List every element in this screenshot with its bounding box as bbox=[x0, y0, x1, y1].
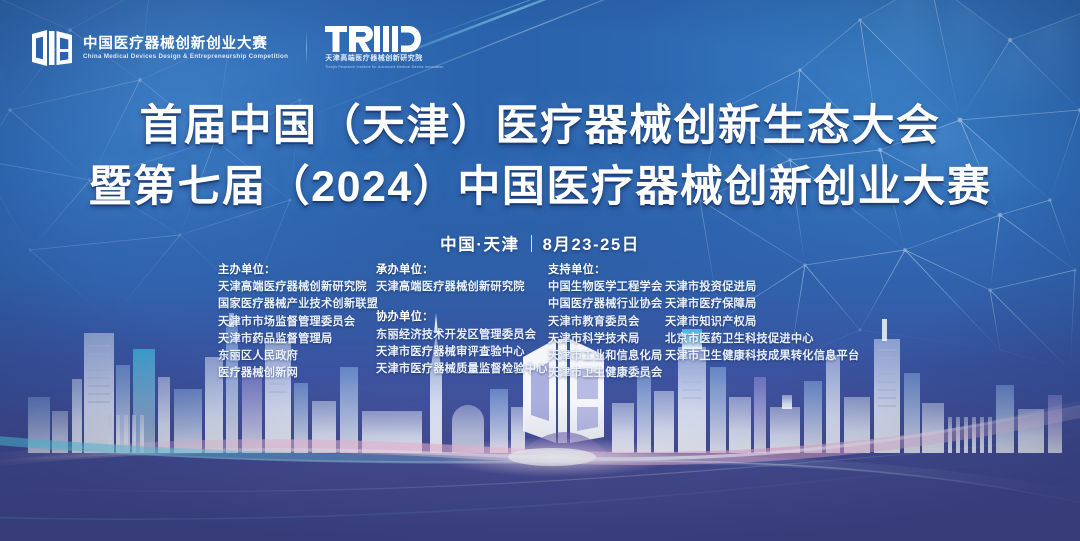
organizer-item: 天津市知识产权局 bbox=[665, 314, 870, 331]
organizer-item: 天津市医疗器械质量监督检验中心 bbox=[376, 361, 548, 378]
organizer-group-heading: 主办单位： bbox=[218, 262, 376, 279]
header-logos: 中国医疗器械创新创业大赛 China Medical Devices Desig… bbox=[30, 26, 444, 70]
organizer-item: 东丽经济技术开发区管理委员会 bbox=[376, 327, 548, 344]
organizer-item: 东丽区人民政府 bbox=[218, 348, 376, 365]
competition-logo-cn-label: 中国医疗器械创新创业大赛 bbox=[83, 37, 288, 52]
organizer-item: 天津市医疗保障局 bbox=[665, 296, 870, 313]
event-date: 8月23-25日 bbox=[543, 231, 640, 255]
main-title-line-1: 首届中国（天津）医疗器械创新生态大会 bbox=[0, 96, 1080, 157]
organizer-column-3: 支持单位： 中国生物医学工程学会 中国医疗器械行业协会 天津市教育委员会 天津市… bbox=[548, 262, 665, 382]
organizer-group-heading: 支持单位： bbox=[548, 262, 665, 279]
title-block: 首届中国（天津）医疗器械创新生态大会 暨第七届（2024）中国医疗器械创新创业大… bbox=[0, 96, 1080, 255]
organizer-item: 医疗器械创新网 bbox=[218, 365, 376, 382]
main-title-line-2: 暨第七届（2024）中国医疗器械创新创业大赛 bbox=[0, 157, 1080, 218]
organizer-group-heading: 协办单位： bbox=[376, 309, 548, 326]
organizer-item: 国家医疗器械产业技术创新联盟 bbox=[218, 296, 376, 313]
organizer-item: 中国医疗器械行业协会 bbox=[548, 296, 665, 313]
organizer-group: 支持单位： 中国生物医学工程学会 中国医疗器械行业协会 天津市教育委员会 天津市… bbox=[548, 262, 665, 382]
competition-logo[interactable]: 中国医疗器械创新创业大赛 China Medical Devices Desig… bbox=[30, 28, 288, 68]
logo-divider bbox=[306, 30, 307, 66]
triid-logo-en-label: Tianjin Research Institute for Advanced … bbox=[325, 66, 443, 70]
organizer-item: 天津市投资促进局 bbox=[665, 279, 870, 296]
organizer-item: 天津高端医疗器械创新研究院 bbox=[376, 279, 548, 296]
triid-logo[interactable]: 天津高端医疗器械创新研究院 Tianjin Research Institute… bbox=[325, 26, 443, 70]
organizer-item: 中国生物医学工程学会 bbox=[548, 279, 665, 296]
organizer-item: 天津市教育委员会 bbox=[548, 314, 665, 331]
organizer-item: 天津高端医疗器械创新研究院 bbox=[218, 279, 376, 296]
competition-logo-en-label: China Medical Devices Design & Entrepren… bbox=[83, 54, 288, 61]
organizer-item: 天津市卫生健康委员会 bbox=[548, 365, 665, 382]
organizer-group: 天津市投资促进局 天津市医疗保障局 天津市知识产权局 北京市医药卫生科技促进中心… bbox=[665, 262, 870, 365]
organizer-item: 北京市医药卫生科技促进中心 bbox=[665, 331, 870, 348]
organizer-group: 协办单位： 东丽经济技术开发区管理委员会 天津市医疗器械审评查验中心 天津市医疗… bbox=[376, 309, 548, 378]
organizer-group: 承办单位： 天津高端医疗器械创新研究院 bbox=[376, 262, 548, 296]
organizer-group: 主办单位： 天津高端医疗器械创新研究院 国家医疗器械产业技术创新联盟 天津市市场… bbox=[218, 262, 376, 382]
organizer-column-4-spacer bbox=[665, 262, 870, 279]
triid-wordmark-icon bbox=[325, 26, 421, 52]
organizer-column-1: 主办单位： 天津高端医疗器械创新研究院 国家医疗器械产业技术创新联盟 天津市市场… bbox=[218, 262, 376, 382]
organizer-item: 天津市药品监督管理局 bbox=[218, 331, 376, 348]
event-meta: 中国·天津 8月23-25日 bbox=[0, 231, 1080, 255]
organizer-item: 天津市卫生健康科技成果转化信息平台 bbox=[665, 348, 870, 365]
triid-logo-cn-label: 天津高端医疗器械创新研究院 bbox=[325, 55, 423, 63]
organizer-group-heading: 承办单位： bbox=[376, 262, 548, 279]
organizer-item: 天津市工业和信息化局 bbox=[548, 348, 665, 365]
organizer-column-2: 承办单位： 天津高端医疗器械创新研究院 协办单位： 东丽经济技术开发区管理委员会… bbox=[376, 262, 548, 382]
meta-separator bbox=[531, 235, 532, 252]
conference-banner: 中国医疗器械创新创业大赛 China Medical Devices Desig… bbox=[0, 0, 1080, 541]
organizer-column-4: 天津市投资促进局 天津市医疗保障局 天津市知识产权局 北京市医药卫生科技促进中心… bbox=[665, 262, 870, 382]
event-location: 中国·天津 bbox=[440, 231, 520, 255]
organizer-item: 天津市市场监督管理委员会 bbox=[218, 314, 376, 331]
organizer-item: 天津市科学技术局 bbox=[548, 331, 665, 348]
organizer-item: 天津市医疗器械审评查验中心 bbox=[376, 344, 548, 361]
open-book-logo-mark-icon bbox=[30, 28, 74, 68]
organizers-block: 主办单位： 天津高端医疗器械创新研究院 国家医疗器械产业技术创新联盟 天津市市场… bbox=[0, 262, 1080, 382]
